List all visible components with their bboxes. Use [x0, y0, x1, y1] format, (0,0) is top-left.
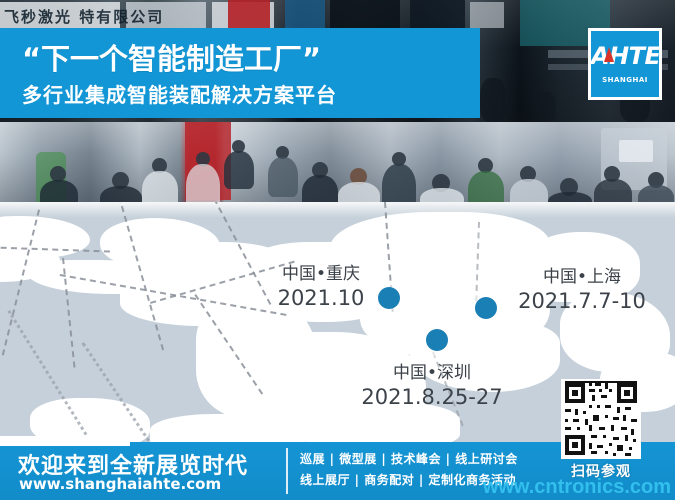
poster-root: 飞秒激光 特有限公司 “下一个智能制造工厂” 多行业集成智能装配解决方案平台 A… — [0, 0, 675, 500]
booth-figure-a — [480, 78, 506, 122]
city-date-shanghai: 2021.7.7-10 — [502, 288, 662, 314]
booth-dark-panel-a — [330, 0, 400, 30]
qr-code-image[interactable] — [561, 379, 641, 459]
booth-figure-c — [534, 92, 556, 122]
crowd-machine-screen — [619, 140, 653, 162]
crowd-photo-band — [0, 122, 675, 212]
logo-subtitle: SHANGHAI — [591, 76, 659, 84]
city-label-shenzhen: 中国•深圳 2021.8.25-27 — [352, 362, 512, 410]
ahte-logo: AHTE SHANGHAI — [588, 28, 662, 100]
crowd-person — [224, 151, 254, 189]
booth-blue-panel — [285, 0, 325, 30]
booth-dark-panel-b — [410, 0, 465, 30]
map-top-fade — [0, 202, 675, 218]
city-dot-shanghai[interactable] — [475, 297, 497, 319]
site-watermark: www.cntronics.com — [483, 476, 671, 499]
landmass-east-africa — [150, 414, 310, 442]
footer-notch — [0, 436, 130, 446]
city-dot-chongqing[interactable] — [378, 287, 400, 309]
headline-subtitle: 多行业集成智能装配解决方案平台 — [22, 79, 337, 108]
logo-triangle-icon — [604, 47, 614, 62]
city-date-shenzhen: 2021.8.25-27 — [352, 384, 512, 410]
city-date-chongqing: 2021.10 — [262, 285, 380, 311]
footer-divider — [286, 448, 288, 494]
footer-services-line-1: 巡展 | 微型展 | 技术峰会 | 线上研讨会 — [300, 449, 518, 470]
footer-website-url[interactable]: www.shanghaiahte.com — [19, 475, 221, 493]
booth-light-panel — [470, 2, 504, 28]
headline-main: “下一个智能制造工厂” — [22, 36, 321, 78]
city-label-chongqing: 中国•重庆 2021.10 — [262, 263, 380, 311]
city-dot-shenzhen[interactable] — [426, 329, 448, 351]
logo-wordmark: AHTE — [591, 44, 659, 68]
city-label-shanghai: 中国•上海 2021.7.7-10 — [502, 266, 662, 314]
qr-section: 扫码参观 — [561, 379, 641, 481]
city-name-shenzhen: 中国•深圳 — [352, 362, 512, 384]
city-name-shanghai: 中国•上海 — [502, 266, 662, 288]
booth-sign-text: 飞秒激光 特有限公司 — [4, 6, 164, 27]
city-name-chongqing: 中国•重庆 — [262, 263, 380, 285]
crowd-person — [268, 157, 298, 197]
